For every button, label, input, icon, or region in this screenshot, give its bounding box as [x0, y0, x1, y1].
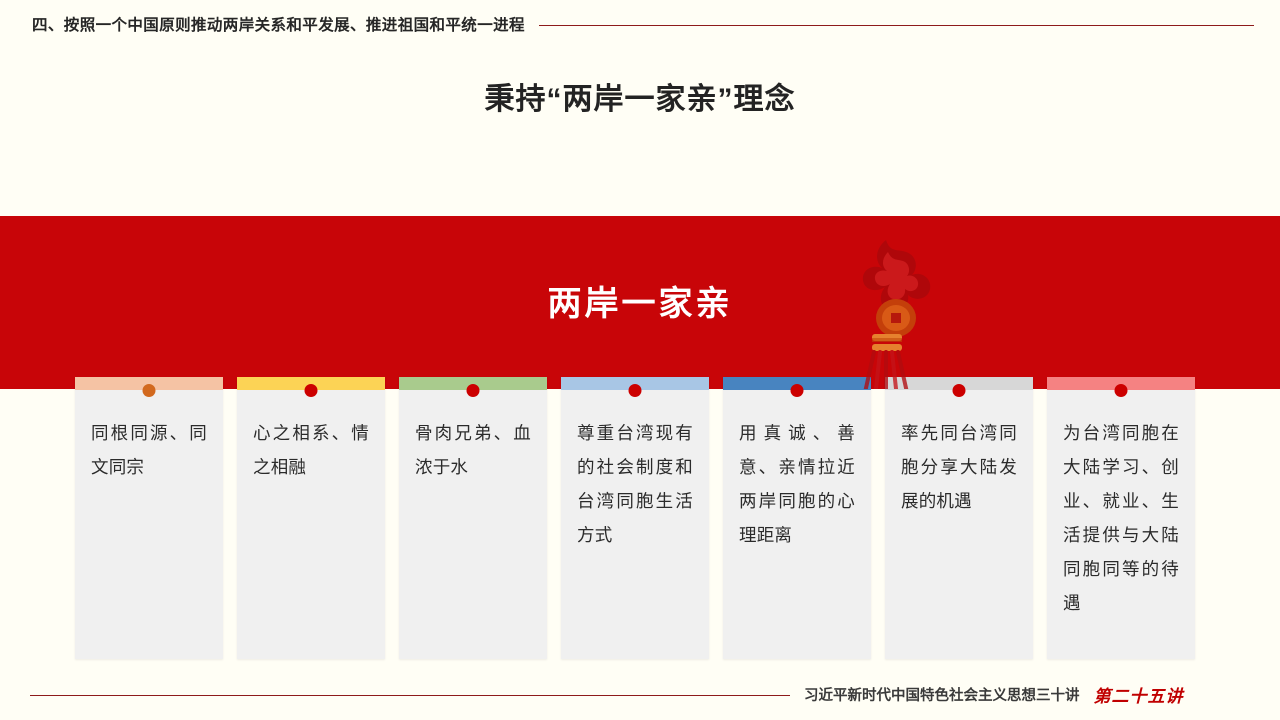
red-banner: 两岸一家亲: [0, 216, 1280, 389]
slide-header: 四、按照一个中国原则推动两岸关系和平发展、推进祖国和平统一进程: [0, 0, 1280, 48]
card-text: 率先同台湾同胞分享大陆发展的机遇: [885, 416, 1033, 536]
footer-divider-line: [30, 695, 790, 696]
point-card-7[interactable]: 为台湾同胞在大陆学习、创业、就业、生活提供与大陆同胞同等的待遇: [1047, 377, 1195, 659]
point-card-3[interactable]: 骨肉兄弟、血浓于水: [399, 377, 547, 659]
point-card-4[interactable]: 尊重台湾现有的社会制度和台湾同胞生活方式: [561, 377, 709, 659]
page-title: 秉持“两岸一家亲”理念: [0, 74, 1280, 118]
card-marker-dot: [467, 384, 480, 397]
card-marker-dot: [1115, 384, 1128, 397]
card-text: 心之相系、情之相融: [237, 416, 385, 502]
banner-headline: 两岸一家亲: [0, 276, 1280, 325]
footer-lecture-label: 第二十五讲: [1094, 682, 1184, 707]
point-card-5[interactable]: 用真诚、善意、亲情拉近两岸同胞的心理距离: [723, 377, 871, 659]
card-text: 为台湾同胞在大陆学习、创业、就业、生活提供与大陆同胞同等的待遇: [1047, 416, 1195, 638]
slide-footer: 习近平新时代中国特色社会主义思想三十讲 第二十五讲: [0, 668, 1280, 720]
card-marker-dot: [305, 384, 318, 397]
card-marker-dot: [953, 384, 966, 397]
point-card-6[interactable]: 率先同台湾同胞分享大陆发展的机遇: [885, 377, 1033, 659]
footer-series-title: 习近平新时代中国特色社会主义思想三十讲: [804, 684, 1080, 705]
card-marker-dot: [143, 384, 156, 397]
card-marker-dot: [791, 384, 804, 397]
points-card-row: 同根同源、同文同宗 心之相系、情之相融 骨肉兄弟、血浓于水 尊重台湾现有的社会制…: [75, 377, 1205, 659]
card-text: 尊重台湾现有的社会制度和台湾同胞生活方式: [561, 416, 709, 570]
card-text: 用真诚、善意、亲情拉近两岸同胞的心理距离: [723, 416, 871, 570]
point-card-2[interactable]: 心之相系、情之相融: [237, 377, 385, 659]
card-text: 同根同源、同文同宗: [75, 416, 223, 502]
header-divider-line: [539, 25, 1254, 26]
point-card-1[interactable]: 同根同源、同文同宗: [75, 377, 223, 659]
card-text: 骨肉兄弟、血浓于水: [399, 416, 547, 502]
card-marker-dot: [629, 384, 642, 397]
section-title: 四、按照一个中国原则推动两岸关系和平发展、推进祖国和平统一进程: [32, 13, 525, 35]
